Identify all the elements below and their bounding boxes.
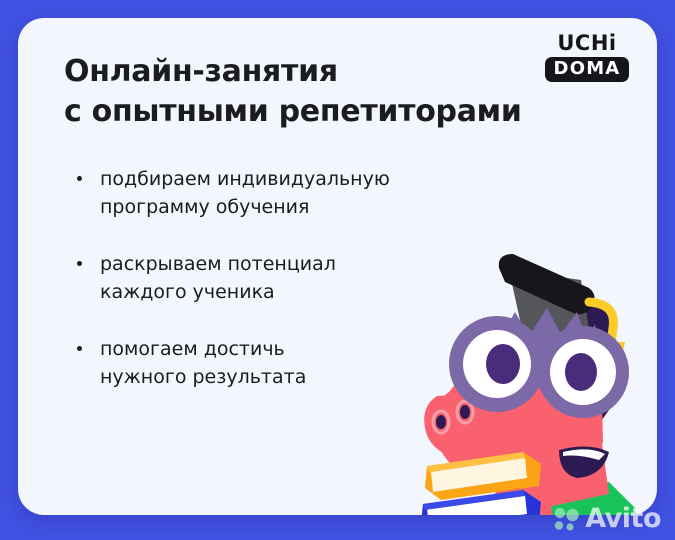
bullet-dot-icon [77, 261, 82, 266]
bullet-dot-icon [77, 176, 82, 181]
list-item-line-1: подбираем индивидуальную [100, 166, 474, 194]
promo-banner: UCHi DOMA Онлайн-занятия с опытными репе… [0, 0, 675, 540]
list-item: подбираем индивидуальную программу обуче… [74, 166, 474, 221]
logo-wordmark-bottom: DOMA [545, 57, 630, 82]
list-item-line-2: программу обучения [100, 194, 474, 222]
promo-card: UCHi DOMA Онлайн-занятия с опытными репе… [18, 18, 657, 515]
avito-wordmark: Avito [585, 505, 661, 532]
title-line-1: Онлайн-занятия [64, 52, 534, 92]
avito-watermark: Avito [553, 505, 661, 532]
title-line-2: с опытными репетиторами [64, 92, 534, 132]
logo-wordmark-top: UCHi [541, 32, 633, 54]
page-title: Онлайн-занятия с опытными репетиторами [64, 52, 534, 131]
avito-dots-icon [553, 506, 579, 532]
uchi-doma-logo: UCHi DOMA [541, 32, 633, 82]
bullet-dot-icon [77, 346, 82, 351]
dinosaur-student-mascot-illustration [413, 246, 657, 515]
